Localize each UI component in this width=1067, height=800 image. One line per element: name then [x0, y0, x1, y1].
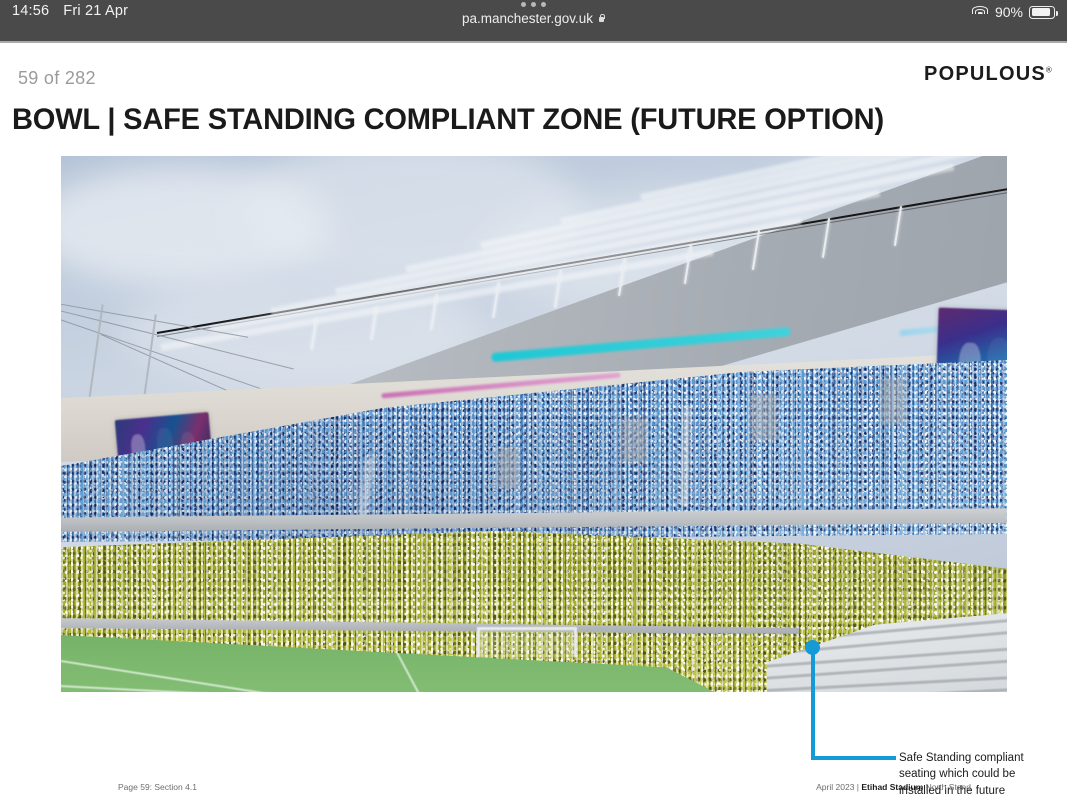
url-row[interactable]: pa.manchester.gov.uk	[462, 11, 605, 26]
document-page: 59 of 282 POPULOUS® BOWL | SAFE STANDING…	[0, 43, 1067, 800]
browser-chrome: 14:56 Fri 21 Apr pa.manchester.gov.uk 90…	[0, 0, 1067, 41]
footer-right: April 2023 | Etihad Stadium North Stand	[816, 782, 971, 792]
footer-left: Page 59: Section 4.1	[118, 782, 197, 792]
battery-icon	[1029, 6, 1055, 19]
footer-area: North Stand	[923, 782, 971, 792]
page-title: BOWL | SAFE STANDING COMPLIANT ZONE (FUT…	[12, 103, 884, 137]
populous-logo: POPULOUS®	[924, 63, 1053, 86]
callout-leader-line-vertical	[811, 650, 815, 760]
vomitory-gap	[621, 418, 647, 462]
vomitory-gap	[751, 394, 777, 440]
battery-percent-label: 90%	[995, 4, 1023, 20]
footer-project: Etihad Stadium	[861, 782, 923, 792]
status-bar-right: 90%	[972, 4, 1055, 20]
address-bar[interactable]: pa.manchester.gov.uk	[0, 2, 1067, 28]
wifi-icon	[972, 6, 989, 19]
lock-icon	[598, 14, 605, 23]
footer-separator: |	[857, 782, 859, 792]
tab-overview-dots-icon[interactable]	[0, 2, 1067, 7]
vomitory-gap	[881, 378, 905, 424]
goal	[477, 627, 577, 657]
pitch-line	[61, 660, 575, 692]
page-indicator: 59 of 282	[18, 68, 96, 89]
footer-date: April 2023	[816, 782, 854, 792]
url-text: pa.manchester.gov.uk	[462, 11, 593, 26]
vomitory-gap	[497, 448, 519, 488]
brand-mark: ®	[1046, 65, 1053, 74]
callout-leader-line-horizontal	[811, 756, 896, 760]
stadium-render-image	[61, 156, 1007, 692]
brand-text: POPULOUS	[924, 63, 1046, 85]
pitch-line	[61, 684, 640, 692]
